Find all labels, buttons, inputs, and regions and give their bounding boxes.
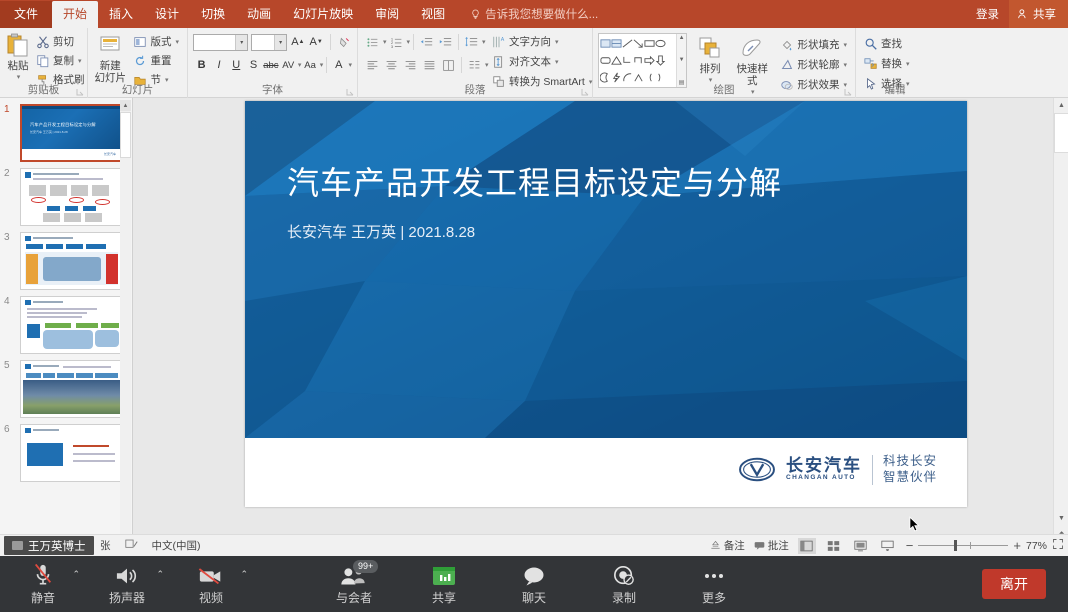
shape-blank-icon xyxy=(666,35,675,52)
slide-number-5: 5 xyxy=(4,360,10,371)
video-button[interactable]: 视频 ⌃ xyxy=(180,556,242,612)
zoom-slider-handle[interactable] xyxy=(954,540,957,551)
shape-outline-button[interactable]: 形状轮廓 ▾ xyxy=(777,55,850,74)
video-label: 视频 xyxy=(199,589,223,606)
slide-thumbnail-6[interactable]: 6 xyxy=(20,424,124,482)
drawing-dialog-launcher-icon[interactable] xyxy=(844,88,852,96)
slide-thumbnail-5[interactable]: 5 xyxy=(20,360,124,418)
status-right: 备注 批注 − xyxy=(710,538,1064,554)
font-name-dropdown-icon[interactable]: ▾ xyxy=(235,35,247,50)
mute-label: 静音 xyxy=(31,589,55,606)
slide-number-4: 4 xyxy=(4,296,10,307)
mic-muted-icon xyxy=(32,563,54,587)
text-columns-button[interactable] xyxy=(465,56,484,74)
scissors-icon xyxy=(36,35,50,49)
layout-label: 版式 xyxy=(150,34,171,49)
text-direction-button[interactable]: A 文字方向 ▾ xyxy=(489,32,595,51)
zoom-slider-midpoint xyxy=(970,542,971,549)
participants-count-badge: 99+ xyxy=(353,560,378,573)
align-text-label: 对齐文本 xyxy=(509,54,551,69)
participants-button[interactable]: 99+ 与会者 xyxy=(323,556,385,612)
group-label-drawing: 绘图 xyxy=(593,82,855,97)
slideshow-view-button[interactable] xyxy=(879,538,897,554)
thumb-5-preview xyxy=(21,361,122,417)
copy-dropdown-icon[interactable]: ▾ xyxy=(78,57,82,65)
tab-file[interactable]: 文件 xyxy=(0,1,52,28)
speaker-icon xyxy=(114,563,140,587)
text-columns-dropdown-icon[interactable]: ▾ xyxy=(485,61,489,69)
notes-label: 备注 xyxy=(724,538,745,553)
font-color-dropdown-icon[interactable]: ▾ xyxy=(348,61,352,69)
text-direction-dropdown-icon[interactable]: ▾ xyxy=(555,38,559,46)
cut-button[interactable]: 剪切 xyxy=(33,32,88,51)
record-label: 录制 xyxy=(612,589,636,606)
ribbon-group-drawing: ▲▼▤ 排列 ▾ 快速样式 ▾ 形状填充 ▾ xyxy=(593,28,856,98)
share-screen-button[interactable]: 共享 xyxy=(413,556,475,612)
ribbon-body: 粘贴 ▾ 剪切 复制 ▾ 格式刷 xyxy=(0,28,1068,98)
line-spacing-dropdown-icon[interactable]: ▾ xyxy=(482,38,486,46)
arrange-icon xyxy=(697,35,723,61)
slide-thumbnail-2[interactable]: 2 xyxy=(20,168,124,226)
shape-fill-button[interactable]: 形状填充 ▾ xyxy=(777,35,850,54)
ribbon-group-slides: 新建 幻灯片 版式 ▾ 重置 节 ▾ xyxy=(88,28,188,98)
presenter-name-tag: 王万英博士 xyxy=(4,536,94,555)
font-color-button[interactable]: A xyxy=(330,56,347,74)
speaker-label: 扬声器 xyxy=(109,589,145,606)
zoom-level-label[interactable]: 77% xyxy=(1026,540,1047,552)
new-slide-button[interactable]: 新建 幻灯片 xyxy=(93,30,127,89)
leave-meeting-button[interactable]: 离开 xyxy=(982,569,1046,599)
group-label-editing: 编辑 xyxy=(856,82,934,97)
work-area: 1 汽车产品开发工程目标设定与分解 长安汽车 王万英 | 2021.8.28 长… xyxy=(0,98,1068,556)
thumbnail-scroll-up-icon[interactable]: ▲ xyxy=(120,100,131,111)
svg-text:A: A xyxy=(501,37,505,43)
zoom-in-button[interactable]: + xyxy=(1013,538,1021,553)
group-label-paragraph: 段落 xyxy=(358,82,592,97)
shape-elbow2-icon[interactable] xyxy=(633,52,644,69)
changan-logo-mark-icon xyxy=(738,457,776,482)
shape-elbow1-icon[interactable] xyxy=(622,52,633,69)
paste-label: 粘贴 xyxy=(8,60,29,72)
slide-thumbnail-1[interactable]: 1 汽车产品开发工程目标设定与分解 长安汽车 王万英 | 2021.8.28 长… xyxy=(20,104,124,162)
tab-home[interactable]: 开始 xyxy=(52,1,98,28)
changan-name: 长安汽车 CHANGAN AUTO xyxy=(786,457,862,482)
group-label-clipboard: 剪贴板 xyxy=(0,82,87,97)
meeting-center-controls: 99+ 与会者 共享 聊天 xyxy=(323,556,745,612)
shape-textbox2-icon[interactable] xyxy=(611,35,622,52)
replace-button[interactable]: 替换 ▾ xyxy=(861,54,929,73)
columns-button[interactable] xyxy=(439,56,458,74)
font-size-dropdown-icon[interactable]: ▾ xyxy=(274,35,286,50)
underline-button[interactable]: U xyxy=(228,56,245,74)
slide-number-3: 3 xyxy=(4,232,10,243)
shape-line-icon[interactable] xyxy=(622,35,633,52)
slide-body: 汽车产品开发工程目标设定与分解 长安汽车 王万英 | 2021.8.28 xyxy=(245,101,967,438)
shapes-scroll-dn-icon[interactable]: ▼ xyxy=(679,57,685,63)
new-slide-icon xyxy=(97,32,123,58)
replace-dropdown-icon[interactable]: ▾ xyxy=(906,60,910,68)
align-text-dropdown-icon[interactable]: ▾ xyxy=(555,58,559,66)
slide-thumbnail-6-card[interactable] xyxy=(20,424,123,482)
tab-insert[interactable]: 插入 xyxy=(98,1,144,28)
para-divider xyxy=(413,34,414,50)
share-screen-label: 共享 xyxy=(432,589,456,606)
changan-slogan: 科技长安 智慧伙伴 xyxy=(883,454,937,485)
slide-scroll-up-icon[interactable]: ▲ xyxy=(1054,98,1068,113)
thumb-1-logo: 长安汽车 xyxy=(104,152,116,156)
share-button[interactable]: 共享 xyxy=(1009,0,1068,28)
participants-label: 与会者 xyxy=(336,589,372,606)
slide-sorter-view-button[interactable] xyxy=(825,538,843,554)
slide-thumbnail-5-card[interactable] xyxy=(20,360,123,418)
logo-divider xyxy=(872,455,873,485)
shape-fill-label: 形状填充 xyxy=(797,37,839,52)
ribbon-right-actions: 登录 共享 xyxy=(966,0,1068,28)
change-case-dropdown-icon[interactable]: ▾ xyxy=(320,61,324,69)
changan-logo: 长安汽车 CHANGAN AUTO 科技长安 智慧伙伴 xyxy=(738,454,937,485)
reading-view-button[interactable] xyxy=(852,538,870,554)
thumb-1-preview: 汽车产品开发工程目标设定与分解 长安汽车 王万英 | 2021.8.28 长安汽… xyxy=(22,106,121,160)
more-label: 更多 xyxy=(702,589,726,606)
shape-outline-dropdown-icon[interactable]: ▾ xyxy=(843,61,847,69)
ribbon-group-clipboard: 粘贴 ▾ 剪切 复制 ▾ 格式刷 xyxy=(0,28,88,98)
font-size-input[interactable]: ▾ xyxy=(251,34,287,51)
slide-subtitle[interactable]: 长安汽车 王万英 | 2021.8.28 xyxy=(287,221,475,242)
increase-indent-button[interactable] xyxy=(436,33,455,51)
ribbon-group-paragraph: ▾ 123 ▾ xyxy=(358,28,593,98)
chat-button[interactable]: 聊天 xyxy=(503,556,565,612)
share-screen-icon xyxy=(431,563,457,587)
font-name-input[interactable]: ▾ xyxy=(193,34,248,51)
speaker-button[interactable]: 扬声器 ⌃ xyxy=(96,556,158,612)
align-text-icon xyxy=(492,55,506,69)
align-center-button[interactable] xyxy=(382,56,401,74)
layout-icon xyxy=(133,35,147,49)
arrange-label: 排列 xyxy=(700,63,721,75)
slide-scroll-down-icon[interactable]: ▼ xyxy=(1054,511,1068,526)
numbering-button[interactable]: 123 xyxy=(387,33,406,51)
chat-icon xyxy=(521,563,547,587)
zoom-control[interactable]: − + 77% xyxy=(906,538,1064,553)
font-divider xyxy=(330,34,331,50)
mute-options-chevron-icon[interactable]: ⌃ xyxy=(72,569,80,580)
clear-formatting-icon[interactable] xyxy=(337,33,352,51)
decrease-font-size-icon[interactable]: A▼ xyxy=(309,33,324,51)
shape-roundrect-icon[interactable] xyxy=(600,52,611,69)
new-slide-label-1: 新建 xyxy=(100,60,121,72)
slide-number-2: 2 xyxy=(4,168,10,179)
thumbnail-scrollbar[interactable]: ▲ ▼ xyxy=(120,100,131,554)
strikethrough-button[interactable]: abc xyxy=(262,56,279,74)
para-divider-2 xyxy=(458,34,459,50)
lightbulb-icon xyxy=(470,9,481,20)
share-label: 共享 xyxy=(1033,6,1056,22)
decrease-indent-button[interactable] xyxy=(417,33,436,51)
find-button[interactable]: 查找 xyxy=(861,34,929,53)
quick-styles-icon xyxy=(739,35,765,61)
speaker-options-chevron-icon[interactable]: ⌃ xyxy=(156,569,164,580)
align-text-button[interactable]: 对齐文本 ▾ xyxy=(489,52,595,71)
tab-design[interactable]: 设计 xyxy=(144,1,190,28)
text-direction-label: 文字方向 xyxy=(509,34,551,49)
bold-button[interactable]: B xyxy=(193,56,210,74)
chat-label: 聊天 xyxy=(522,589,546,606)
shape-outline-icon xyxy=(780,58,794,72)
shadow-button[interactable]: S xyxy=(245,56,262,74)
align-left-button[interactable] xyxy=(363,56,382,74)
more-button[interactable]: 更多 xyxy=(683,556,745,612)
record-icon xyxy=(612,563,636,587)
layout-button[interactable]: 版式 ▾ xyxy=(130,32,182,51)
polygon-background-graphic xyxy=(245,101,967,438)
spellcheck-icon[interactable] xyxy=(125,539,138,553)
slide-thumbnail-pane[interactable]: 1 汽车产品开发工程目标设定与分解 长安汽车 王万英 | 2021.8.28 长… xyxy=(0,98,133,556)
normal-view-button[interactable] xyxy=(798,538,816,554)
presenter-name: 王万英博士 xyxy=(28,538,86,554)
clipboard-dialog-launcher-icon[interactable] xyxy=(76,88,84,96)
group-label-slides: 幻灯片 xyxy=(88,82,187,97)
text-direction-icon: A xyxy=(492,35,506,49)
slide-canvas[interactable]: 汽车产品开发工程目标设定与分解 长安汽车 王万英 | 2021.8.28 长安汽… xyxy=(133,98,1068,556)
copy-label: 复制 xyxy=(53,53,74,68)
find-label: 查找 xyxy=(881,36,902,51)
bullets-button[interactable] xyxy=(363,33,382,51)
increase-font-size-icon[interactable]: A▲ xyxy=(290,33,305,51)
tell-me-box[interactable]: 告诉我您想要做什么... xyxy=(456,1,606,28)
thumbnail-scroll-thumb[interactable] xyxy=(120,112,131,158)
status-bar: 张 中文(中国) 备注 批注 xyxy=(0,534,1068,556)
replace-icon xyxy=(864,57,878,71)
slide-number-6: 6 xyxy=(4,424,10,435)
current-slide[interactable]: 汽车产品开发工程目标设定与分解 长安汽车 王万英 | 2021.8.28 长安汽… xyxy=(245,101,967,507)
fit-to-window-icon[interactable] xyxy=(1052,538,1064,553)
sign-in-button[interactable]: 登录 xyxy=(966,0,1009,28)
slide-title[interactable]: 汽车产品开发工程目标设定与分解 xyxy=(287,158,782,204)
cut-label: 剪切 xyxy=(53,34,74,49)
notes-button[interactable]: 备注 xyxy=(710,538,745,553)
meeting-toolbar: 静音 ⌃ 扬声器 ⌃ 视频 ⌃ xyxy=(0,556,1068,612)
shape-fill-icon xyxy=(780,38,794,52)
slide-thumbnail-4[interactable]: 4 xyxy=(20,296,124,354)
slide-scroll-thumb[interactable] xyxy=(1054,113,1068,153)
align-right-button[interactable] xyxy=(401,56,420,74)
copy-icon xyxy=(36,54,50,68)
search-icon xyxy=(864,37,878,51)
changan-name-en: CHANGAN AUTO xyxy=(786,475,862,482)
tab-transitions[interactable]: 切换 xyxy=(190,1,236,28)
shape-textbox-icon[interactable] xyxy=(600,35,611,52)
slide-footer: 长安汽车 CHANGAN AUTO 科技长安 智慧伙伴 xyxy=(245,438,967,507)
more-icon xyxy=(701,563,727,587)
record-button[interactable]: 录制 xyxy=(593,556,655,612)
thumb-1-title: 汽车产品开发工程目标设定与分解 xyxy=(30,122,96,128)
thumb-6-preview xyxy=(21,425,122,481)
change-case-button[interactable]: Aa xyxy=(301,56,318,74)
meeting-left-controls: 静音 ⌃ 扬声器 ⌃ 视频 ⌃ xyxy=(12,556,242,612)
shape-ellipse-icon[interactable] xyxy=(655,35,666,52)
shape-right-arrow-icon[interactable] xyxy=(644,52,655,69)
font-divider-2 xyxy=(326,57,327,73)
thumb-3-preview xyxy=(21,233,122,289)
font-dialog-launcher-icon[interactable] xyxy=(346,88,354,96)
slide-vertical-scrollbar[interactable]: ▲ ▼ ⏶ ⏷ xyxy=(1053,98,1068,556)
thumb-4-preview xyxy=(21,297,122,353)
shape-outline-label: 形状轮廓 xyxy=(797,57,839,72)
comments-button[interactable]: 批注 xyxy=(754,538,789,553)
person-share-icon xyxy=(1017,8,1029,20)
reset-label: 重置 xyxy=(150,53,171,68)
shape-rectangle-icon[interactable] xyxy=(644,35,655,52)
video-options-chevron-icon[interactable]: ⌃ xyxy=(240,569,248,580)
paragraph-dialog-launcher-icon[interactable] xyxy=(581,88,589,96)
layout-dropdown-icon[interactable]: ▾ xyxy=(175,38,179,46)
shape-fill-dropdown-icon[interactable]: ▾ xyxy=(843,41,847,49)
svg-text:3: 3 xyxy=(390,43,393,48)
ribbon-group-editing: 查找 替换 ▾ 选择 ▾ 编辑 xyxy=(856,28,934,98)
camera-off-icon xyxy=(198,563,224,587)
para-divider-3 xyxy=(461,57,462,73)
zoom-slider[interactable] xyxy=(918,545,1008,546)
line-spacing-button[interactable] xyxy=(462,33,481,51)
mute-button[interactable]: 静音 ⌃ xyxy=(12,556,74,612)
language-indicator[interactable]: 中文(中国) xyxy=(152,538,201,553)
comments-label: 批注 xyxy=(768,538,789,553)
italic-button[interactable]: I xyxy=(210,56,227,74)
shapes-gallery-scrollbar[interactable]: ▲▼▤ xyxy=(676,34,686,87)
shape-down-arrow-icon[interactable] xyxy=(655,52,666,69)
powerpoint-window: 文件 开始 插入 设计 切换 动画 幻灯片放映 审阅 视图 告诉我您想要做什么.… xyxy=(0,0,1068,556)
shape-arrow-icon[interactable] xyxy=(633,35,644,52)
thumb-1-subtitle: 长安汽车 王万英 | 2021.8.28 xyxy=(30,130,68,134)
paste-button[interactable]: 粘贴 ▾ xyxy=(5,30,31,89)
tab-view[interactable]: 视图 xyxy=(410,1,456,28)
slide-thumbnail-3-card[interactable] xyxy=(20,232,123,290)
thumb-2-preview xyxy=(21,169,122,225)
shapes-gallery[interactable]: ▲▼▤ xyxy=(598,33,687,88)
shape-triangle-icon[interactable] xyxy=(611,52,622,69)
character-spacing-button[interactable]: AV xyxy=(280,56,297,74)
justify-button[interactable] xyxy=(420,56,439,74)
thumb-1-footer: 长安汽车 xyxy=(22,149,121,160)
ribbon-group-font: ▾ ▾ A▲ A▼ B I U S abc AV ▾ xyxy=(188,28,358,98)
slide-number-1: 1 xyxy=(4,104,10,115)
reset-icon xyxy=(133,54,147,68)
shapes-scroll-up-icon[interactable]: ▲ xyxy=(679,35,685,41)
tell-me-text: 告诉我您想要做什么... xyxy=(485,6,598,22)
zoom-out-button[interactable]: − xyxy=(906,538,914,553)
presenter-badge-icon xyxy=(12,541,23,550)
slide-thumbnail-3[interactable]: 3 xyxy=(20,232,124,290)
changan-name-cn: 长安汽车 xyxy=(786,457,862,475)
group-label-font: 字体 xyxy=(188,82,357,97)
tab-review[interactable]: 审阅 xyxy=(364,1,410,28)
mouse-cursor-icon xyxy=(909,516,920,533)
copy-button[interactable]: 复制 ▾ xyxy=(33,51,88,70)
reset-button[interactable]: 重置 xyxy=(130,51,182,70)
shape-blank2-icon xyxy=(666,52,675,69)
slogan-line-2: 智慧伙伴 xyxy=(883,470,937,486)
slide-thumbnail-1-card[interactable]: 汽车产品开发工程目标设定与分解 长安汽车 王万英 | 2021.8.28 长安汽… xyxy=(20,104,123,162)
thumb-1-band xyxy=(22,106,121,109)
tab-animations[interactable]: 动画 xyxy=(236,1,282,28)
slide-thumbnail-2-card[interactable] xyxy=(20,168,123,226)
replace-label: 替换 xyxy=(881,56,902,71)
tab-slideshow[interactable]: 幻灯片放映 xyxy=(282,1,364,28)
ribbon-tab-bar: 文件 开始 插入 设计 切换 动画 幻灯片放映 审阅 视图 告诉我您想要做什么.… xyxy=(0,0,1068,28)
paste-icon xyxy=(5,32,31,58)
numbering-dropdown-icon[interactable]: ▾ xyxy=(407,38,411,46)
slogan-line-1: 科技长安 xyxy=(883,454,937,470)
slide-thumbnail-4-card[interactable] xyxy=(20,296,123,354)
